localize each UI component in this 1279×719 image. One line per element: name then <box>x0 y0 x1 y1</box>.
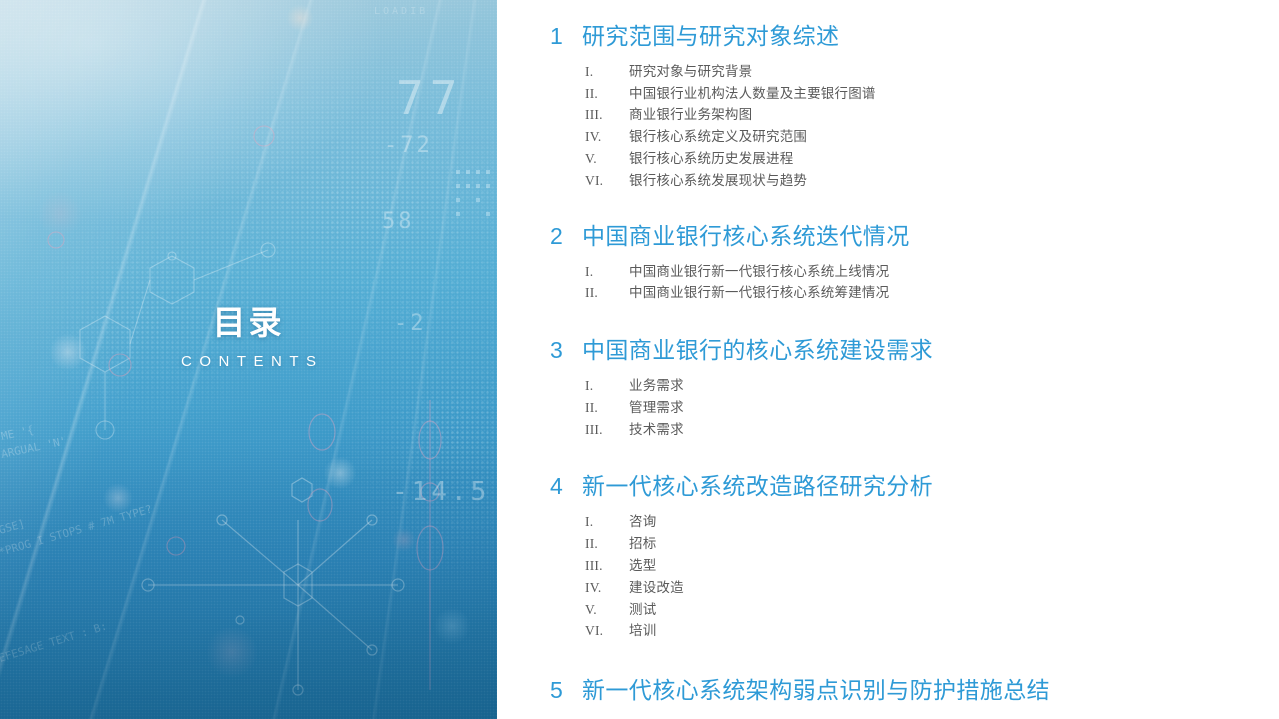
toc-subitem[interactable]: IV.建设改造 <box>585 577 1279 599</box>
cover-image-panel: 77 -72 58 -2 -14.5 LOADIB ME '{ ARGUAL '… <box>0 0 497 719</box>
toc-subitem[interactable]: II.招标 <box>585 533 1279 555</box>
toc-subitem-label: 研究对象与研究背景 <box>629 61 752 83</box>
toc-subitem-numeral: VI. <box>585 620 629 642</box>
toc-subitem-label: 管理需求 <box>629 397 684 419</box>
toc-subitem-numeral: IV. <box>585 126 629 148</box>
toc-subitem[interactable]: III.技术需求 <box>585 419 1279 441</box>
toc-section-5: 5新一代核心系统架构弱点识别与防护措施总结 <box>497 676 1279 706</box>
toc-subitem[interactable]: III.选型 <box>585 555 1279 577</box>
toc-section-title: 中国商业银行核心系统迭代情况 <box>582 222 910 252</box>
table-of-contents: 1研究范围与研究对象综述I.研究对象与研究背景II.中国银行业机构法人数量及主要… <box>497 0 1279 719</box>
toc-subitem-label: 测试 <box>629 599 656 621</box>
toc-subitem-numeral: II. <box>585 282 629 304</box>
toc-subitem-label: 咨询 <box>629 511 656 533</box>
toc-heading-3[interactable]: 3中国商业银行的核心系统建设需求 <box>497 336 1279 366</box>
toc-subitem[interactable]: I.咨询 <box>585 511 1279 533</box>
toc-list: 1研究范围与研究对象综述I.研究对象与研究背景II.中国银行业机构法人数量及主要… <box>497 0 1279 719</box>
toc-subitem[interactable]: VI.银行核心系统发展现状与趋势 <box>585 170 1279 192</box>
toc-section-title: 新一代核心系统架构弱点识别与防护措施总结 <box>582 676 1050 706</box>
toc-subitem[interactable]: IV.银行核心系统定义及研究范围 <box>585 126 1279 148</box>
toc-section-4: 4新一代核心系统改造路径研究分析I.咨询II.招标III.选型IV.建设改造V.… <box>497 472 1279 642</box>
toc-subitem-numeral: III. <box>585 419 629 441</box>
toc-subitem-label: 选型 <box>629 555 656 577</box>
toc-subitem-numeral: I. <box>585 261 629 283</box>
toc-section-number: 2 <box>550 222 582 252</box>
toc-section-number: 5 <box>550 676 582 706</box>
toc-subitem[interactable]: VI.培训 <box>585 620 1279 642</box>
toc-subitem[interactable]: V.银行核心系统历史发展进程 <box>585 148 1279 170</box>
toc-subitem-label: 商业银行业务架构图 <box>629 104 752 126</box>
toc-slide: 77 -72 58 -2 -14.5 LOADIB ME '{ ARGUAL '… <box>0 0 1279 719</box>
toc-subitem-label: 中国商业银行新一代银行核心系统筹建情况 <box>629 282 889 304</box>
toc-subitem-numeral: II. <box>585 533 629 555</box>
toc-subitem-label: 中国银行业机构法人数量及主要银行图谱 <box>629 83 876 105</box>
toc-heading-5[interactable]: 5新一代核心系统架构弱点识别与防护措施总结 <box>497 676 1279 706</box>
toc-subitem[interactable]: II.管理需求 <box>585 397 1279 419</box>
toc-subitem-numeral: I. <box>585 375 629 397</box>
toc-sublist-1: I.研究对象与研究背景II.中国银行业机构法人数量及主要银行图谱III.商业银行… <box>497 61 1279 192</box>
toc-sublist-4: I.咨询II.招标III.选型IV.建设改造V.测试VI.培训 <box>497 511 1279 642</box>
toc-subitem-label: 银行核心系统定义及研究范围 <box>629 126 807 148</box>
toc-subitem-label: 建设改造 <box>629 577 684 599</box>
toc-subitem[interactable]: I.业务需求 <box>585 375 1279 397</box>
toc-subitem-label: 业务需求 <box>629 375 684 397</box>
toc-subitem[interactable]: I.中国商业银行新一代银行核心系统上线情况 <box>585 261 1279 283</box>
toc-subitem[interactable]: III.商业银行业务架构图 <box>585 104 1279 126</box>
toc-section-3: 3中国商业银行的核心系统建设需求I.业务需求II.管理需求III.技术需求 <box>497 336 1279 440</box>
toc-subitem-label: 培训 <box>629 620 656 642</box>
toc-subitem-label: 银行核心系统发展现状与趋势 <box>629 170 807 192</box>
toc-subitem-numeral: I. <box>585 61 629 83</box>
toc-subitem-label: 招标 <box>629 533 656 555</box>
toc-heading-4[interactable]: 4新一代核心系统改造路径研究分析 <box>497 472 1279 502</box>
toc-section-title: 研究范围与研究对象综述 <box>582 22 839 52</box>
toc-subitem[interactable]: I.研究对象与研究背景 <box>585 61 1279 83</box>
toc-subitem-numeral: V. <box>585 599 629 621</box>
toc-subitem-numeral: II. <box>585 397 629 419</box>
toc-subitem-numeral: II. <box>585 83 629 105</box>
toc-subitem-label: 银行核心系统历史发展进程 <box>629 148 793 170</box>
toc-section-2: 2中国商业银行核心系统迭代情况I.中国商业银行新一代银行核心系统上线情况II.中… <box>497 222 1279 304</box>
toc-subitem[interactable]: II.中国银行业机构法人数量及主要银行图谱 <box>585 83 1279 105</box>
toc-subitem-label: 技术需求 <box>629 419 684 441</box>
toc-subitem-numeral: I. <box>585 511 629 533</box>
toc-heading-2[interactable]: 2中国商业银行核心系统迭代情况 <box>497 222 1279 252</box>
toc-subitem-numeral: IV. <box>585 577 629 599</box>
toc-section-number: 4 <box>550 472 582 502</box>
toc-subitem-numeral: III. <box>585 104 629 126</box>
toc-subitem-label: 中国商业银行新一代银行核心系统上线情况 <box>629 261 889 283</box>
toc-section-title: 新一代核心系统改造路径研究分析 <box>582 472 933 502</box>
toc-section-number: 1 <box>550 22 582 52</box>
toc-heading-1[interactable]: 1研究范围与研究对象综述 <box>497 22 1279 52</box>
toc-subitem-numeral: III. <box>585 555 629 577</box>
toc-subitem[interactable]: V.测试 <box>585 599 1279 621</box>
toc-section-1: 1研究范围与研究对象综述I.研究对象与研究背景II.中国银行业机构法人数量及主要… <box>497 22 1279 192</box>
toc-sublist-2: I.中国商业银行新一代银行核心系统上线情况II.中国商业银行新一代银行核心系统筹… <box>497 261 1279 305</box>
toc-subitem[interactable]: II.中国商业银行新一代银行核心系统筹建情况 <box>585 282 1279 304</box>
toc-subitem-numeral: VI. <box>585 170 629 192</box>
toc-sublist-3: I.业务需求II.管理需求III.技术需求 <box>497 375 1279 440</box>
toc-section-number: 3 <box>550 336 582 366</box>
toc-subitem-numeral: V. <box>585 148 629 170</box>
toc-section-title: 中国商业银行的核心系统建设需求 <box>582 336 933 366</box>
cover-overlay-wash <box>0 0 497 719</box>
